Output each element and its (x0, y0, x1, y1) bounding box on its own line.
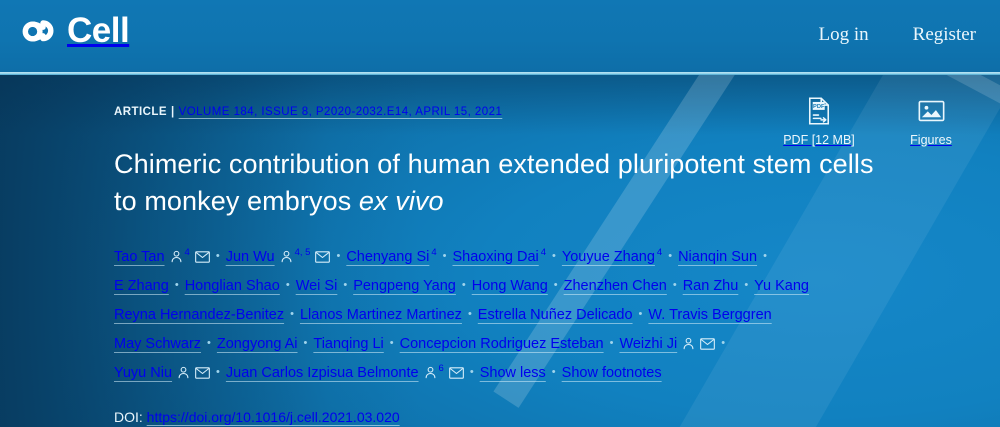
author-link[interactable]: Pengpeng Yang (353, 278, 456, 294)
author-link[interactable]: Wei Si (296, 278, 338, 294)
author-separator-bullet: • (548, 271, 564, 299)
author-person-icon[interactable] (280, 250, 293, 263)
title-italic: ex vivo (359, 186, 444, 216)
author-name: Yuyu Niu (114, 365, 172, 381)
author-separator-bullet: • (437, 242, 453, 270)
author-link[interactable]: Reyna Hernandez-Benitez (114, 307, 284, 323)
author-line: Yuyu Niu•Juan Carlos Izpisua Belmonte6•S… (114, 358, 830, 387)
header-divider (0, 72, 1000, 75)
author-name: Honglian Shao (185, 278, 280, 294)
author-link[interactable]: Nianqin Sun (678, 249, 757, 265)
author-line: May Schwarz•Zongyong Ai•Tianqing Li•Conc… (114, 329, 830, 358)
cell-brand-link[interactable]: Cell (18, 11, 129, 51)
author-link[interactable]: Zongyong Ai (217, 336, 298, 352)
author-name: Concepcion Rodriguez Esteban (400, 336, 604, 352)
author-separator-bullet: • (169, 271, 185, 299)
author-name: Weizhi Ji (619, 336, 677, 352)
author-name: Chenyang Si (346, 249, 429, 265)
author-link[interactable]: Zhenzhen Chen (564, 278, 667, 294)
article-citation-link[interactable]: VOLUME 184, ISSUE 8, P2020-2032.E14, APR… (179, 106, 503, 118)
author-line: E Zhang•Honglian Shao•Wei Si•Pengpeng Ya… (114, 271, 830, 300)
author-person-icon[interactable] (424, 366, 437, 379)
author-link[interactable]: Tianqing Li (313, 336, 383, 352)
author-name: W. Travis Berggren (648, 307, 771, 323)
author-name: Estrella Nuñez Delicado (478, 307, 633, 323)
author-person-icon[interactable] (170, 250, 183, 263)
author-link[interactable]: Honglian Shao (185, 278, 280, 294)
article-header-page: Cell Log in Register PDF PDF [12 MB] (0, 0, 1000, 427)
meta-separator: | (167, 106, 179, 118)
author-separator-bullet: • (715, 329, 731, 357)
author-name: E Zhang (114, 278, 169, 294)
author-name: Reyna Hernandez-Benitez (114, 307, 284, 323)
author-line: Tao Tan4•Jun Wu4, 5•Chenyang Si4•Shaoxin… (114, 242, 830, 271)
author-link[interactable]: Ran Zhu (683, 278, 739, 294)
author-name: Tianqing Li (313, 336, 383, 352)
author-name: Ran Zhu (683, 278, 739, 294)
author-link[interactable]: Concepcion Rodriguez Esteban (400, 336, 604, 352)
author-name: Juan Carlos Izpisua Belmonte (226, 365, 419, 381)
author-separator-bullet: • (546, 242, 562, 270)
author-link[interactable]: Shaoxing Dai4 (453, 249, 547, 265)
author-separator-bullet: • (201, 329, 217, 357)
author-list: Tao Tan4•Jun Wu4, 5•Chenyang Si4•Shaoxin… (114, 242, 830, 387)
author-name: Yu Kang (754, 278, 809, 294)
author-link[interactable]: Tao Tan4 (114, 249, 210, 265)
author-link[interactable]: Youyue Zhang4 (562, 249, 662, 265)
author-link[interactable]: W. Travis Berggren (648, 307, 771, 323)
author-link[interactable]: Jun Wu4, 5 (226, 249, 331, 265)
author-email-icon[interactable] (700, 338, 715, 350)
title-main: Chimeric contribution of human extended … (114, 149, 874, 216)
author-separator-bullet: • (280, 271, 296, 299)
author-separator-bullet: • (210, 358, 226, 386)
author-separator-bullet: • (298, 329, 314, 357)
author-separator-bullet: • (738, 271, 754, 299)
author-person-icon[interactable] (682, 337, 695, 350)
article-meta-line: ARTICLE|VOLUME 184, ISSUE 8, P2020-2032.… (114, 104, 904, 120)
author-link[interactable]: Yuyu Niu (114, 365, 210, 381)
doi-line: DOI: https://doi.org/10.1016/j.cell.2021… (114, 407, 904, 427)
author-link[interactable]: Chenyang Si4 (346, 249, 436, 265)
author-link[interactable]: May Schwarz (114, 336, 201, 352)
author-separator-bullet: • (464, 358, 480, 386)
author-name: Youyue Zhang (562, 249, 655, 265)
author-email-icon[interactable] (195, 251, 210, 263)
author-link[interactable]: Estrella Nuñez Delicado (478, 307, 633, 323)
author-separator-bullet: • (757, 242, 773, 270)
author-link[interactable]: E Zhang (114, 278, 169, 294)
author-name: Zhenzhen Chen (564, 278, 667, 294)
author-separator-bullet: • (462, 300, 478, 328)
author-separator-bullet: • (667, 271, 683, 299)
site-header-bar: Cell Log in Register (0, 0, 1000, 72)
article-type-label: ARTICLE (114, 106, 167, 118)
top-navigation: Log in Register (819, 23, 976, 47)
author-separator-bullet: • (284, 300, 300, 328)
doi-link[interactable]: https://doi.org/10.1016/j.cell.2021.03.0… (147, 409, 400, 425)
author-email-icon[interactable] (315, 251, 330, 263)
author-link[interactable]: Weizhi Ji (619, 336, 715, 352)
author-email-icon[interactable] (449, 367, 464, 379)
author-separator-bullet: • (662, 242, 678, 270)
author-separator-bullet: • (330, 242, 346, 270)
show-footnotes-link[interactable]: Show footnotes (562, 365, 662, 381)
register-link[interactable]: Register (913, 23, 976, 47)
author-email-icon[interactable] (195, 367, 210, 379)
cell-brand-name: Cell (67, 11, 129, 51)
author-link[interactable]: Yu Kang (754, 278, 809, 294)
author-person-icon[interactable] (177, 366, 190, 379)
author-separator-bullet: • (456, 271, 472, 299)
author-link[interactable]: Juan Carlos Izpisua Belmonte6 (226, 365, 464, 381)
author-name: Shaoxing Dai (453, 249, 539, 265)
author-separator-bullet: • (546, 358, 562, 386)
author-name: Wei Si (296, 278, 338, 294)
author-separator-bullet: • (633, 300, 649, 328)
author-separator-bullet: • (384, 329, 400, 357)
author-line: Reyna Hernandez-Benitez•Llanos Martinez … (114, 300, 830, 329)
author-separator-bullet: • (210, 242, 226, 270)
author-name: Tao Tan (114, 249, 165, 265)
article-meta-block: ARTICLE|VOLUME 184, ISSUE 8, P2020-2032.… (114, 104, 904, 427)
author-name: Hong Wang (472, 278, 548, 294)
cell-infinity-logo-icon (18, 11, 58, 51)
author-name: Jun Wu (226, 249, 275, 265)
author-link[interactable]: Llanos Martinez Martinez (300, 307, 462, 323)
author-link[interactable]: Hong Wang (472, 278, 548, 294)
image-figures-icon (918, 96, 945, 126)
author-name: Pengpeng Yang (353, 278, 456, 294)
doi-label: DOI: (114, 409, 143, 425)
author-name: May Schwarz (114, 336, 201, 352)
author-separator-bullet: • (337, 271, 353, 299)
figures-label: Figures (910, 133, 952, 148)
author-name: Llanos Martinez Martinez (300, 307, 462, 323)
login-link[interactable]: Log in (819, 23, 869, 47)
page-title: Chimeric contribution of human extended … (114, 146, 874, 220)
author-name: Nianqin Sun (678, 249, 757, 265)
author-name: Zongyong Ai (217, 336, 298, 352)
author-separator-bullet: • (604, 329, 620, 357)
show-less-link[interactable]: Show less (480, 365, 546, 381)
